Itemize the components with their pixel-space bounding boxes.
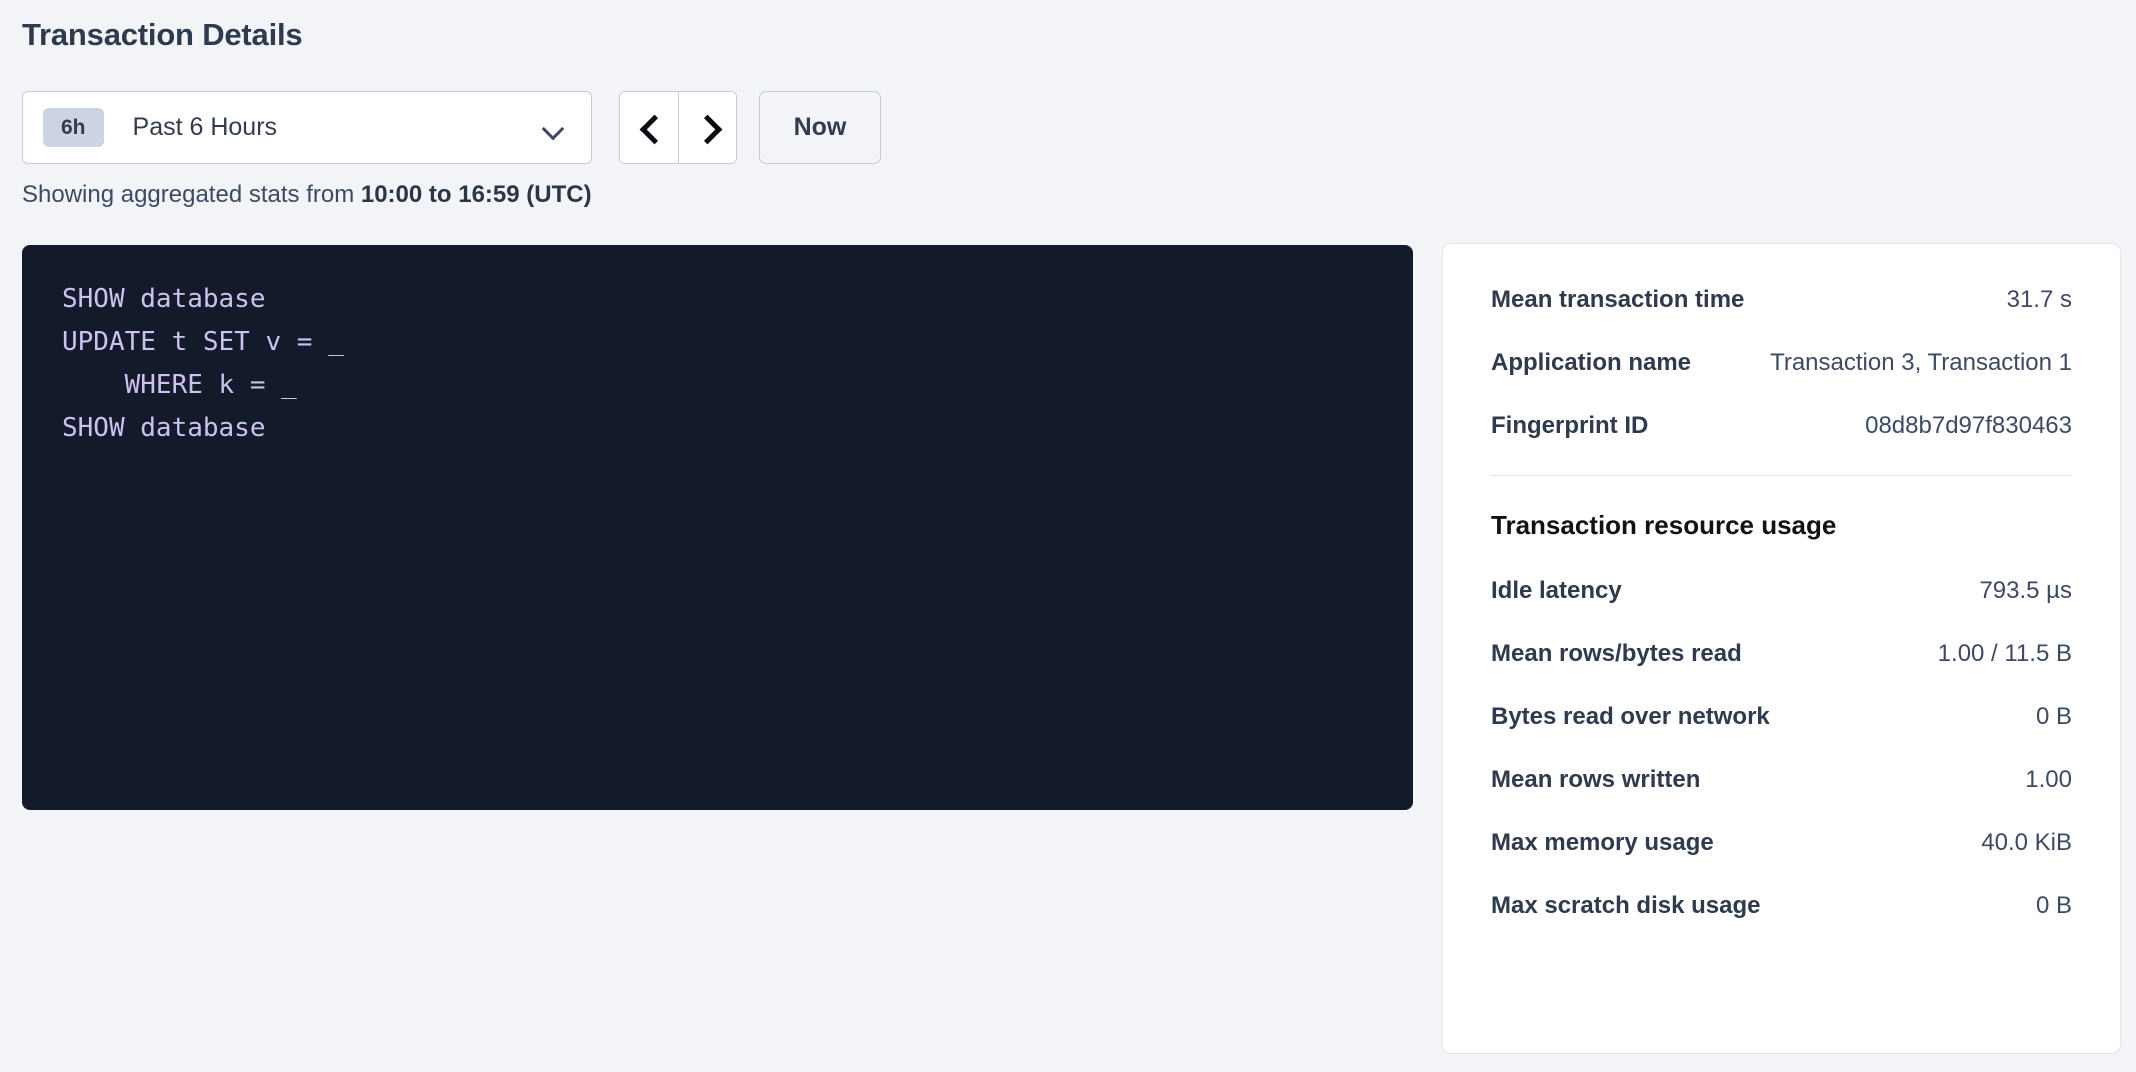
stat-row: Mean rows written 1.00 bbox=[1491, 766, 2072, 794]
stat-value: 0 B bbox=[2020, 703, 2072, 731]
stat-row: Fingerprint ID 08d8b7d97f830463 bbox=[1491, 412, 2072, 440]
stat-label: Fingerprint ID bbox=[1491, 412, 1648, 440]
stat-row: Bytes read over network 0 B bbox=[1491, 703, 2072, 731]
chevron-right-icon bbox=[698, 118, 718, 138]
stat-row: Max scratch disk usage 0 B bbox=[1491, 892, 2072, 920]
now-button[interactable]: Now bbox=[759, 91, 881, 164]
panel-divider bbox=[1491, 475, 2072, 476]
stat-value: Transaction 3, Transaction 1 bbox=[1754, 349, 2072, 377]
time-range-select[interactable]: 6h Past 6 Hours bbox=[22, 91, 592, 164]
stat-label: Mean transaction time bbox=[1491, 286, 1744, 314]
stat-value: 1.00 bbox=[2009, 766, 2072, 794]
stat-label: Bytes read over network bbox=[1491, 703, 1770, 731]
transaction-stats-panel: Mean transaction time 31.7 s Application… bbox=[1442, 243, 2121, 1054]
stat-value: 0 B bbox=[2020, 892, 2072, 920]
time-range-label: Past 6 Hours bbox=[133, 113, 543, 142]
stat-label: Idle latency bbox=[1491, 577, 1622, 605]
stat-label: Max scratch disk usage bbox=[1491, 892, 1760, 920]
stat-row: Application name Transaction 3, Transact… bbox=[1491, 349, 2072, 377]
next-range-button[interactable] bbox=[678, 92, 736, 163]
stat-label: Max memory usage bbox=[1491, 829, 1714, 857]
aggregation-range-text: Showing aggregated stats from 10:00 to 1… bbox=[22, 181, 592, 209]
sql-statement-text: SHOW database UPDATE t SET v = _ WHERE k… bbox=[62, 278, 1413, 450]
stat-row: Idle latency 793.5 µs bbox=[1491, 577, 2072, 605]
time-nav-group bbox=[619, 91, 737, 164]
stat-value: 1.00 / 11.5 B bbox=[1922, 640, 2072, 668]
chevron-left-icon bbox=[639, 118, 659, 138]
stat-row: Mean transaction time 31.7 s bbox=[1491, 286, 2072, 314]
stat-value: 40.0 KiB bbox=[1965, 829, 2072, 857]
stat-value: 08d8b7d97f830463 bbox=[1849, 412, 2072, 440]
aggregation-range-value: 10:00 to 16:59 (UTC) bbox=[361, 181, 592, 208]
page-title: Transaction Details bbox=[22, 17, 302, 53]
sql-statement-panel: SHOW database UPDATE t SET v = _ WHERE k… bbox=[22, 245, 1413, 810]
resource-usage-heading: Transaction resource usage bbox=[1491, 510, 2072, 541]
chevron-down-icon bbox=[543, 121, 565, 134]
stat-value: 793.5 µs bbox=[1963, 577, 2072, 605]
stat-label: Application name bbox=[1491, 349, 1691, 377]
stat-value: 31.7 s bbox=[1991, 286, 2072, 314]
transaction-details-page: Transaction Details 6h Past 6 Hours Now … bbox=[0, 0, 2136, 1072]
stat-label: Mean rows/bytes read bbox=[1491, 640, 1742, 668]
stat-row: Mean rows/bytes read 1.00 / 11.5 B bbox=[1491, 640, 2072, 668]
stat-row: Max memory usage 40.0 KiB bbox=[1491, 829, 2072, 857]
toolbar: 6h Past 6 Hours Now bbox=[22, 91, 881, 164]
aggregation-range-prefix: Showing aggregated stats from bbox=[22, 181, 361, 208]
time-range-badge: 6h bbox=[43, 108, 104, 147]
previous-range-button[interactable] bbox=[620, 92, 678, 163]
stat-label: Mean rows written bbox=[1491, 766, 1700, 794]
